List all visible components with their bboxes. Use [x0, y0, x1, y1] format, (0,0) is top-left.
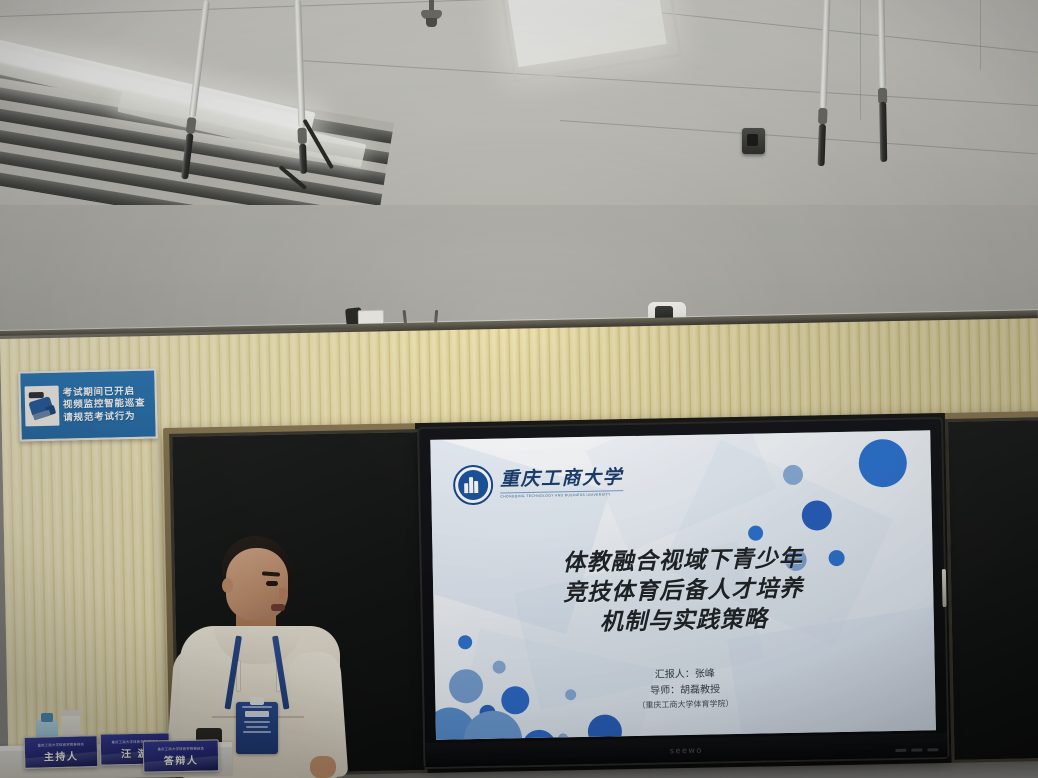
name-placard: 重庆工商大学体育学院答辩会 答辩人 [143, 739, 220, 772]
panel-button-1[interactable] [895, 749, 906, 752]
university-logo: 重庆工商大学 CHONGQING TECHNOLOGY AND BUSINESS… [453, 462, 624, 505]
slide-title: 体教融合视域下青少年 竞技体育后备人才培养 机制与实践策略 [432, 542, 934, 641]
panel-brand-logo: seewo [670, 745, 703, 755]
lanyard-id-badge [236, 702, 278, 754]
university-name-en: CHONGQING TECHNOLOGY AND BUSINESS UNIVER… [500, 490, 623, 499]
panel-button-2[interactable] [911, 748, 922, 751]
panel-button-3[interactable] [927, 748, 938, 751]
decor-bubble [558, 733, 568, 740]
hand [310, 756, 336, 778]
panel-screen[interactable]: 重庆工商大学 CHONGQING TECHNOLOGY AND BUSINESS… [430, 430, 936, 740]
panel-control-buttons[interactable] [895, 748, 938, 752]
ceiling-sensor-icon [742, 128, 765, 154]
decor-bubble [858, 439, 907, 488]
ear [222, 578, 233, 593]
classroom-photo-scene: 重庆工商大学 CHONGQING TECHNOLOGY AND BUSINESS… [0, 0, 1038, 778]
exam-monitoring-notice: 考试期间已开启 视频监控智能巡查 请规范考试行为 [18, 368, 158, 441]
notice-line-2: 视频监控智能巡查 [63, 398, 146, 411]
nose [279, 588, 288, 599]
placard-header: 重庆工商大学体育学院答辩会 [157, 745, 204, 751]
panel-side-button[interactable] [942, 569, 947, 607]
surveillance-camera-icon [25, 386, 60, 427]
chalkboard-right-panel [945, 417, 1038, 763]
university-logo-mark [453, 465, 494, 506]
notice-line-3: 请规范考试行为 [63, 410, 146, 423]
interactive-flat-panel[interactable]: 重庆工商大学 CHONGQING TECHNOLOGY AND BUSINESS… [419, 419, 947, 767]
name-placard: 重庆工商大学体育学院答辩会 主持人 [24, 735, 99, 769]
university-name-cn: 重庆工商大学 [500, 468, 623, 489]
presentation-slide: 重庆工商大学 CHONGQING TECHNOLOGY AND BUSINESS… [430, 430, 936, 740]
fire-sprinkler-icon [418, 0, 444, 30]
eye [266, 581, 278, 586]
mouth [271, 604, 285, 611]
